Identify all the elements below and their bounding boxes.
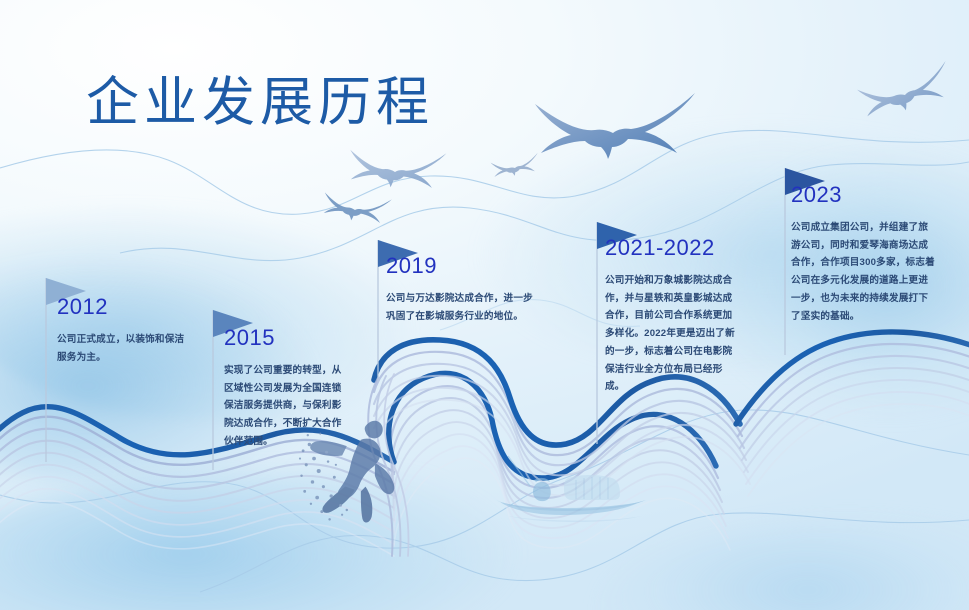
milestone-year: 2023 bbox=[791, 184, 935, 206]
milestone-2012[interactable]: 2012 公司正式成立，以装饰和保洁服务为主。 bbox=[57, 296, 187, 366]
milestone-2023[interactable]: 2023 公司成立集团公司，并组建了旅游公司，同时和爱琴海商场达成合作，合作项目… bbox=[791, 184, 935, 325]
milestone-2019[interactable]: 2019 公司与万达影院达成合作，进一步巩固了在影城服务行业的地位。 bbox=[386, 255, 536, 325]
milestone-year: 2019 bbox=[386, 255, 536, 277]
milestone-description: 公司开始和万象城影院达成合作，并与星轶和英皇影城达成合作，目前公司合作系统更加多… bbox=[605, 272, 740, 396]
milestone-description: 实现了公司重要的转型，从区域性公司发展为全国连锁保洁服务提供商，与保利影院达成合… bbox=[224, 362, 346, 451]
milestone-year: 2021-2022 bbox=[605, 237, 740, 259]
milestone-description: 公司成立集团公司，并组建了旅游公司，同时和爱琴海商场达成合作，合作项目300多家… bbox=[791, 219, 935, 325]
milestone-description: 公司正式成立，以装饰和保洁服务为主。 bbox=[57, 331, 187, 366]
milestone-2015[interactable]: 2015 实现了公司重要的转型，从区域性公司发展为全国连锁保洁服务提供商，与保利… bbox=[224, 327, 346, 451]
milestone-year: 2015 bbox=[224, 327, 346, 349]
milestone-2021-2022[interactable]: 2021-2022 公司开始和万象城影院达成合作，并与星轶和英皇影城达成合作，目… bbox=[605, 237, 740, 396]
milestone-description: 公司与万达影院达成合作，进一步巩固了在影城服务行业的地位。 bbox=[386, 290, 536, 325]
poster-canvas: 企业发展历程 bbox=[0, 0, 969, 610]
milestone-year: 2012 bbox=[57, 296, 187, 318]
